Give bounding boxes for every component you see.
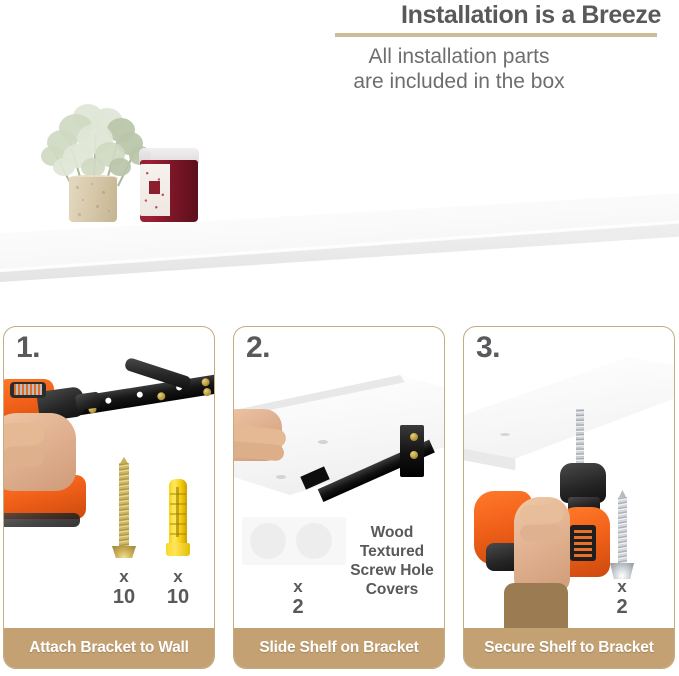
step-number-3: 3. bbox=[476, 331, 500, 365]
part-count-wall-anchor: x 10 bbox=[154, 567, 202, 608]
plant-pot bbox=[69, 177, 117, 222]
step-panel-3: 3. bbox=[463, 326, 675, 669]
step-number-2: 2. bbox=[246, 331, 270, 365]
hole-covers-label: Wood Textured Screw Hole Covers bbox=[342, 523, 442, 599]
step-2-illustration: Wood Textured Screw Hole Covers bbox=[234, 327, 444, 630]
screw-in-progress bbox=[576, 409, 584, 467]
screw-hole-covers-group bbox=[242, 517, 346, 565]
hero-shelf-image bbox=[0, 100, 679, 300]
part-count-silver-screw: x 2 bbox=[598, 577, 646, 618]
step-panel-2: 2. Wood Textured Screw Hole Covers bbox=[233, 326, 445, 669]
hole-cover-2 bbox=[296, 523, 332, 559]
page-subtitle: All installation parts are included in t… bbox=[259, 44, 659, 94]
hole-cover-1 bbox=[250, 523, 286, 559]
step-caption-3: Secure Shelf to Bracket bbox=[464, 628, 674, 668]
jar-emblem bbox=[149, 181, 160, 194]
silver-machine-screw bbox=[610, 497, 634, 583]
decorative-candle-jar bbox=[138, 148, 200, 224]
page-title: Installation is a Breeze bbox=[401, 1, 661, 30]
gold-wood-screw bbox=[112, 463, 136, 561]
step-caption-2: Slide Shelf on Bracket bbox=[234, 628, 444, 668]
step-number-1: 1. bbox=[16, 331, 40, 365]
yellow-wall-anchor bbox=[166, 479, 190, 557]
installation-steps: 1. bbox=[0, 326, 679, 671]
header: Installation is a Breeze All installatio… bbox=[0, 0, 679, 108]
part-count-hole-covers: x 2 bbox=[278, 577, 318, 618]
step-caption-1: Attach Bracket to Wall bbox=[4, 628, 214, 668]
title-divider bbox=[335, 33, 657, 37]
part-count-gold-screw: x 10 bbox=[100, 567, 148, 608]
step-panel-1: 1. bbox=[3, 326, 215, 669]
